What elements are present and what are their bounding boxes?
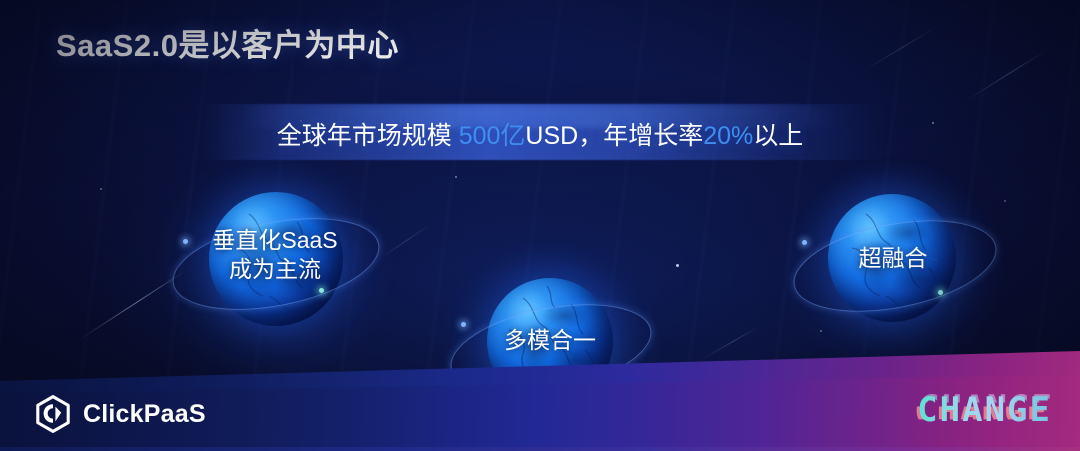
star-dot [100,188,102,190]
shooting-star-streak [966,49,1048,101]
subtitle-lead: 全球年市场规模 [277,122,459,150]
shooting-star-streak [78,270,186,341]
planet-vertical-saas[interactable]: 垂直化SaaS 成为主流 [175,170,375,360]
shooting-star-streak [700,325,761,361]
subtitle-mid: USD，年增长率 [525,122,703,150]
planet-label-line2: 成为主流 [175,255,375,284]
change-wordmark-text: CHANGE [892,387,1052,433]
star-dot [1004,200,1006,202]
planet-label: 垂直化SaaS 成为主流 [175,226,375,284]
planet-label-line1: 多模合一 [455,326,645,355]
clickpaas-logo-text: ClickPaaS [83,400,206,429]
star-dot [676,264,679,267]
planet-label: 多模合一 [455,326,645,355]
shooting-star-streak [864,27,937,71]
slide-title: SaaS2.0是以客户为中心 [56,20,399,65]
change-wordmark: CHANGE CHANGE CHANGE [892,387,1052,433]
planet-label-line1: 超融合 [798,244,988,273]
orbit-dot [319,288,324,293]
shooting-star-streak [380,225,430,259]
subtitle-text: 全球年市场规模 500亿USD，年增长率20%以上 [0,116,1080,152]
subtitle-growth-rate: 20% [703,122,753,150]
orbit-dot [938,290,943,295]
footer-bar-edge [0,447,1080,451]
hexagon-logo-icon [34,395,72,433]
planet-label-line1: 垂直化SaaS [175,226,375,255]
clickpaas-logo[interactable]: ClickPaaS [34,395,206,433]
planet-hyperconverged[interactable]: 超融合 [798,178,988,358]
subtitle-market-size: 500亿 [459,122,526,150]
slide-canvas: SaaS2.0是以客户为中心 全球年市场规模 500亿USD，年增长率20%以上 [0,0,1080,451]
planet-label: 超融合 [798,244,988,273]
star-dot [455,176,457,178]
subtitle-tail: 以上 [753,122,803,150]
